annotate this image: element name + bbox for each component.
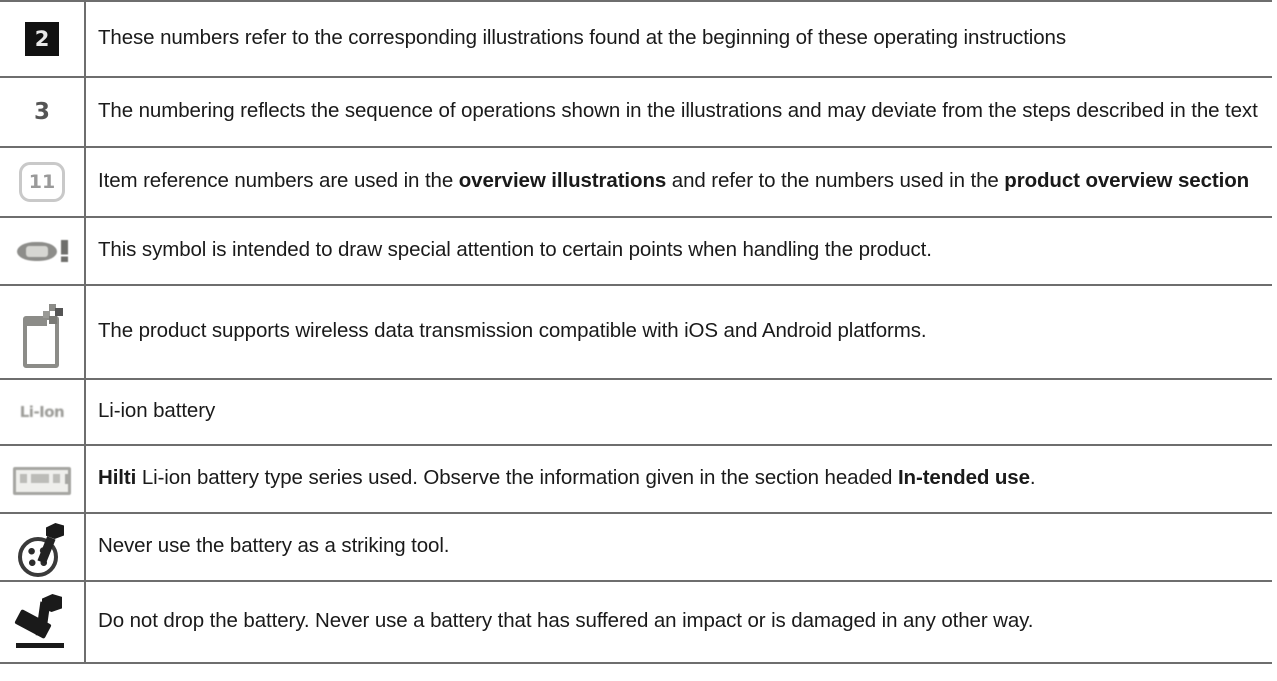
numbered-step-3-glyph: 3: [34, 101, 50, 124]
symbols-legend-table: 2 These numbers refer to the correspondi…: [0, 0, 1272, 664]
table-row: 3 The numbering reflects the sequence of…: [0, 77, 1272, 147]
symbol-cell: [0, 581, 85, 663]
wave-segment-2: [55, 308, 63, 316]
description-cell-4: This symbol is intended to draw special …: [85, 217, 1272, 285]
table-row: Do not drop the battery. Never use a bat…: [0, 581, 1272, 663]
exclamation-mark-shape: [61, 240, 68, 262]
description-cell-8: Never use the battery as a striking tool…: [85, 513, 1272, 581]
description-cell-7: Hilti Li-ion battery type series used. O…: [85, 445, 1272, 513]
note-attention-icon: [0, 240, 84, 262]
item-reference-11-icon: 11: [0, 162, 84, 202]
battery-outline-glyph: [13, 467, 71, 491]
symbol-cell: 3: [0, 77, 85, 147]
description-cell-3: Item reference numbers are used in the o…: [85, 147, 1272, 217]
symbol-cell: [0, 217, 85, 285]
description-cell-5: The product supports wireless data trans…: [85, 285, 1272, 379]
no-striking-tool-icon: [0, 523, 84, 571]
table-row: 11 Item reference numbers are used in th…: [0, 147, 1272, 217]
no-drop-battery-icon: [0, 594, 84, 650]
wave-segment-1: [49, 316, 57, 324]
numbered-step-2-icon: 2: [0, 22, 84, 56]
item-reference-11-glyph: 11: [19, 162, 65, 202]
symbol-cell: [0, 445, 85, 513]
li-ion-battery-icon: Li-Ion: [0, 403, 84, 421]
description-cell-1: These numbers refer to the corresponding…: [85, 1, 1272, 77]
battery-terminal-shape: [65, 474, 71, 484]
battery-bar-1: [20, 474, 27, 483]
note-attention-glyph: [17, 240, 68, 262]
battery-bar-3: [53, 474, 60, 483]
battery-head-shape: [42, 594, 62, 612]
note-blob-shape: [17, 242, 57, 261]
numbered-step-3-icon: 3: [0, 101, 84, 124]
li-ion-wordmark-glyph: Li-Ion: [20, 403, 65, 421]
symbol-cell: [0, 513, 85, 581]
hammer-head-shape: [46, 523, 64, 539]
table-row: Hilti Li-ion battery type series used. O…: [0, 445, 1272, 513]
battery-bar-2: [31, 474, 49, 483]
description-cell-9: Do not drop the battery. Never use a bat…: [85, 581, 1272, 663]
description-cell-6: Li-ion battery: [85, 379, 1272, 445]
description-cell-2: The numbering reflects the sequence of o…: [85, 77, 1272, 147]
smartphone-glyph: [19, 302, 65, 362]
symbol-cell: Li-Ion: [0, 379, 85, 445]
hilti-battery-series-icon: [0, 467, 84, 491]
battery-drop-glyph: [16, 594, 68, 650]
ground-line-shape: [16, 643, 64, 648]
phone-screen-bar-shape: [27, 320, 47, 326]
table-row: This symbol is intended to draw special …: [0, 217, 1272, 285]
table-row: Li-Ion Li-ion battery: [0, 379, 1272, 445]
numbered-step-2-glyph: 2: [25, 22, 59, 56]
table-row: Never use the battery as a striking tool…: [0, 513, 1272, 581]
symbol-cell: 11: [0, 147, 85, 217]
table-row: The product supports wireless data trans…: [0, 285, 1272, 379]
hammer-striking-glyph: [16, 523, 68, 571]
symbol-cell: [0, 285, 85, 379]
symbol-cell: 2: [0, 1, 85, 77]
wireless-data-transmission-icon: [0, 302, 84, 362]
table-row: 2 These numbers refer to the correspondi…: [0, 1, 1272, 77]
